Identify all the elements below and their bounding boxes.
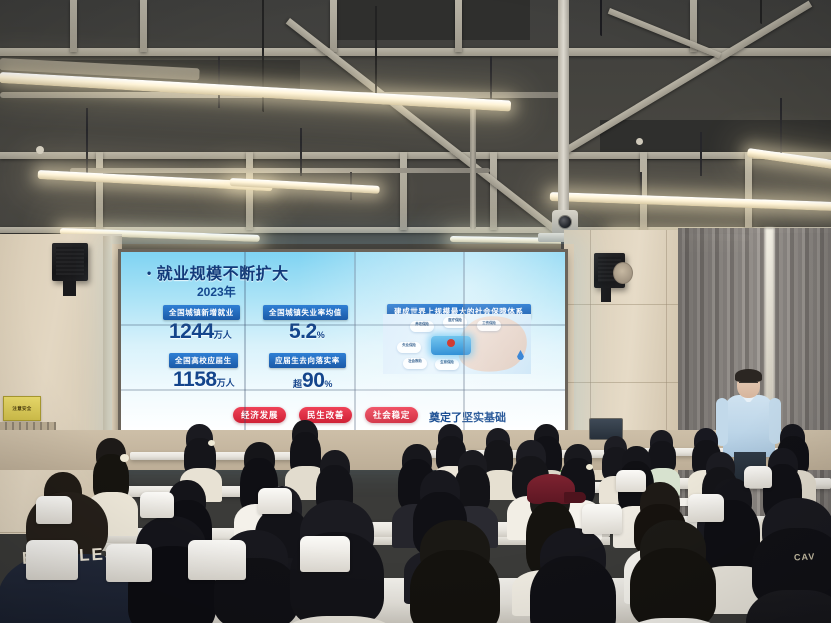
slide-title: • 就业规模不断扩大 xyxy=(147,260,289,284)
chair xyxy=(688,494,724,522)
presenter-shirt xyxy=(723,395,775,457)
ceiling-beam xyxy=(330,0,337,52)
badge-3: 社会稳定 xyxy=(365,407,418,423)
stat-label-2: 全国城镇失业率均值 xyxy=(263,305,348,320)
student-desk xyxy=(130,452,310,460)
speaker-mount xyxy=(63,281,76,296)
warning-sign: 注意安全 xyxy=(3,396,41,421)
right-panel-illustration: 养老保险 医疗保险 工伤保险 失业保险 生育保险 社会救助 xyxy=(383,314,531,374)
stat-unit-3: 万人 xyxy=(217,378,235,388)
wall-speaker-left xyxy=(52,243,88,281)
ceiling-beam xyxy=(70,0,77,52)
slide-year: 2023年 xyxy=(197,283,236,300)
ceiling-beam xyxy=(490,152,497,230)
presentation-slide: • 就业规模不断扩大 2023年 全国城镇新增就业 1244万人 全国城镇失业率… xyxy=(121,252,565,448)
chair xyxy=(36,496,72,524)
chair xyxy=(188,540,246,580)
ceiling-beam xyxy=(0,152,831,159)
camera-lens-icon xyxy=(558,215,572,229)
chair xyxy=(300,536,350,572)
chair xyxy=(582,504,622,534)
bubble-6: 社会救助 xyxy=(403,358,427,369)
chair xyxy=(258,488,292,514)
slide-title-bullet: • xyxy=(147,266,152,280)
speaker-mount xyxy=(601,288,611,302)
chair xyxy=(744,466,772,488)
bubble-1: 养老保险 xyxy=(410,321,434,332)
stat-label-1: 全国城镇新增就业 xyxy=(163,305,240,320)
glasses-icon xyxy=(739,382,758,387)
camera-mount-pole xyxy=(558,0,569,215)
ceiling-beam xyxy=(745,152,752,230)
ceiling-pipe xyxy=(70,168,490,173)
cap-brim xyxy=(564,492,586,503)
ceiling xyxy=(0,0,831,252)
badge-tail-text: 奠定了坚实基础 xyxy=(429,409,506,425)
chair xyxy=(106,544,152,582)
stat-unit-2: % xyxy=(317,330,325,340)
warning-sign-label: 注意安全 xyxy=(4,397,40,420)
ceiling-beam xyxy=(96,152,103,230)
stat-number-3: 1158 xyxy=(173,368,217,391)
emblem-icon xyxy=(447,339,455,347)
stat-unit-4: % xyxy=(324,379,332,389)
stat-label-3: 全国高校应届生 xyxy=(169,353,238,368)
stat-prefix-4: 超 xyxy=(293,379,302,389)
ceiling-speaker-grille-icon xyxy=(613,262,633,284)
bubble-5: 生育保险 xyxy=(435,359,459,370)
stat-label-4: 应届生去向落实率 xyxy=(269,353,346,368)
chair xyxy=(26,540,78,580)
stat-unit-1: 万人 xyxy=(214,330,232,340)
ceiling-beam xyxy=(140,0,147,52)
ceiling-beam xyxy=(246,152,253,230)
chair xyxy=(616,470,646,492)
shirt-text-cav: CAV xyxy=(794,551,816,562)
bubble-4: 失业保险 xyxy=(397,342,421,353)
badge-1: 经济发展 xyxy=(233,407,286,423)
video-wall-display[interactable]: • 就业规模不断扩大 2023年 全国城镇新增就业 1244万人 全国城镇失业率… xyxy=(121,252,565,448)
ceiling-pipe xyxy=(470,100,476,230)
chair xyxy=(140,492,174,518)
slide-title-text: 就业规模不断扩大 xyxy=(157,266,289,283)
ceiling-beam xyxy=(455,0,462,52)
ceiling-beam xyxy=(400,152,407,230)
ceiling-light xyxy=(550,192,831,211)
presenter-hair xyxy=(735,369,762,382)
lecture-hall-photo: 注意安全 • 就业规模不断扩大 2023年 全国城镇新增就业 1244万人 全国… xyxy=(0,0,831,623)
